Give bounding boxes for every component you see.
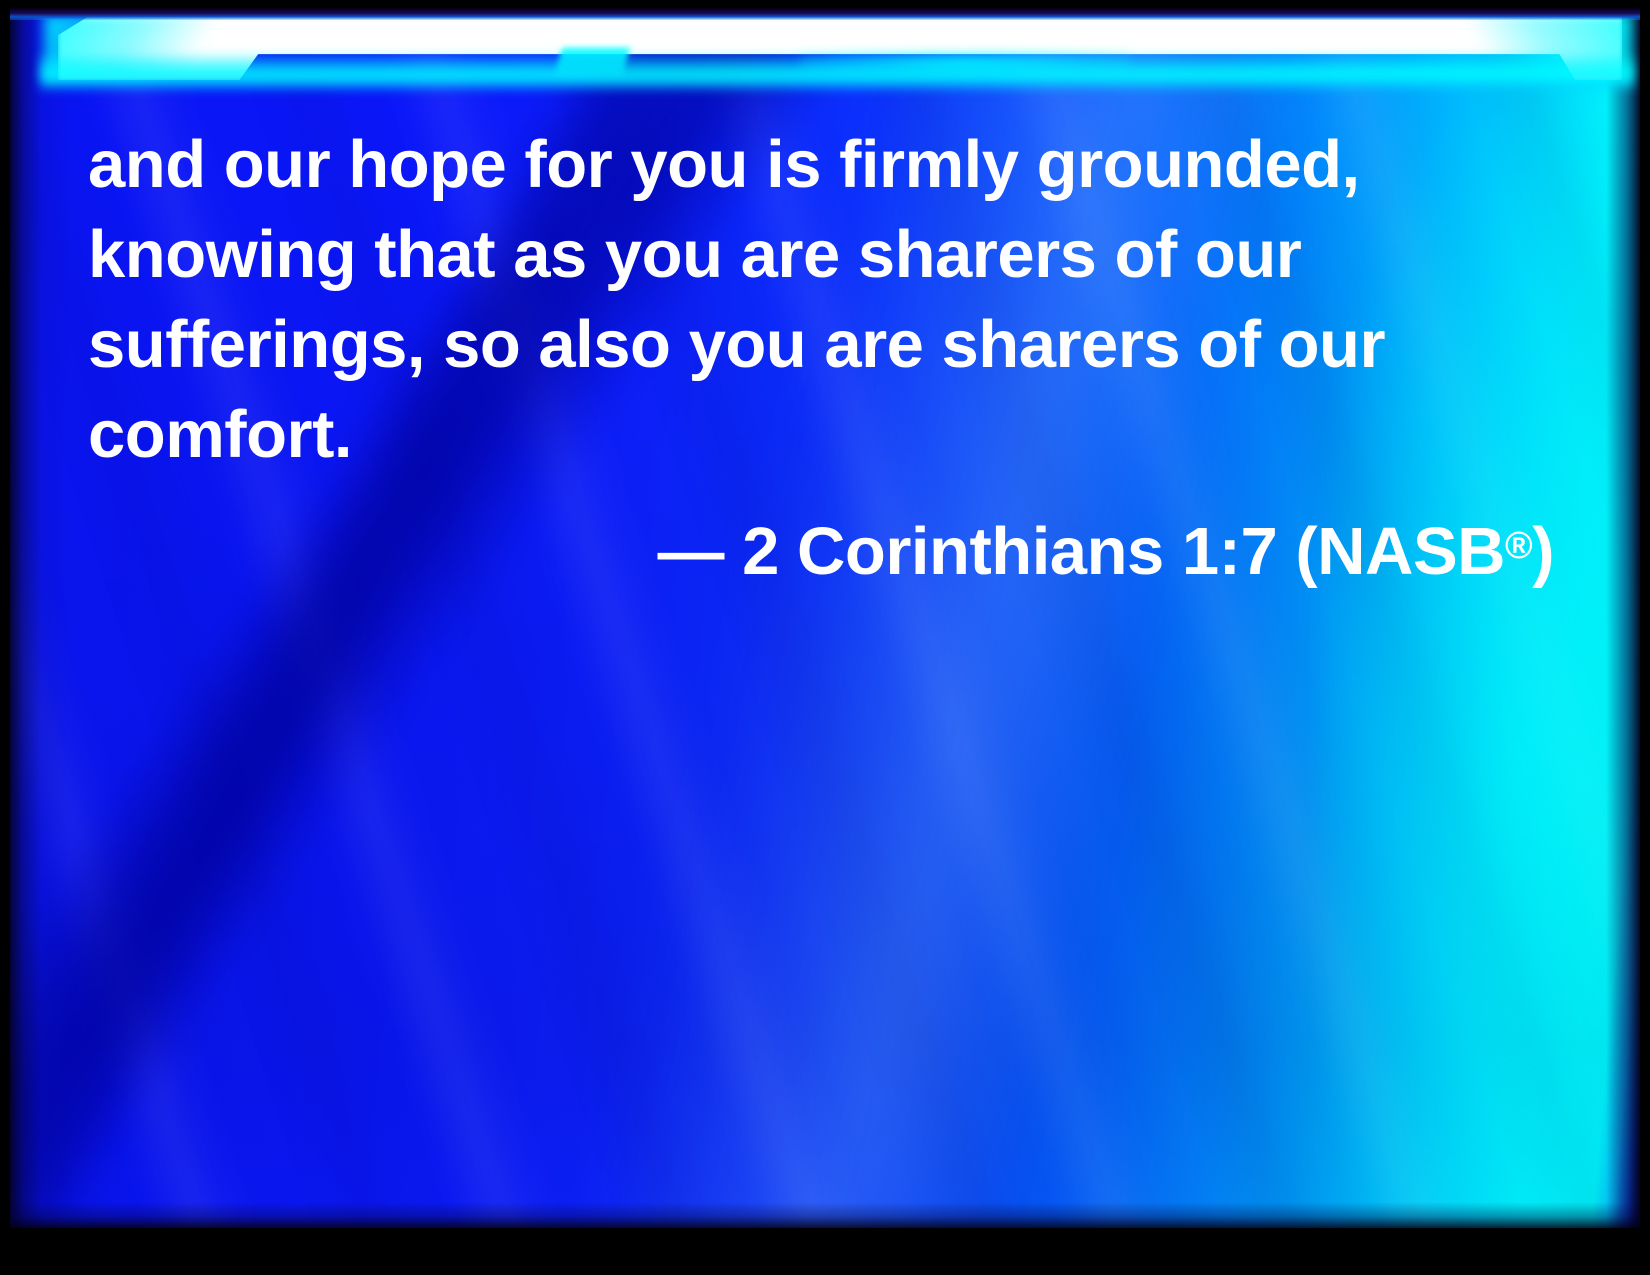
verse-reference-close-paren: ) [1532,514,1554,589]
top-light-bar-blob [800,52,1130,74]
verse-reference-dash: — [658,514,725,589]
background-bottom-vignette [10,1202,1640,1228]
verse-text: and our hope for you is firmly grounded,… [88,120,1558,480]
top-light-bar-cyan-right [1440,14,1630,76]
top-light-bar [10,8,1640,100]
verse-reference-translation: NASB [1317,514,1505,589]
verse-block: and our hope for you is firmly grounded,… [88,120,1558,595]
registered-trademark-icon: ® [1505,524,1532,566]
verse-slide: and our hope for you is firmly grounded,… [0,0,1650,1275]
top-light-bar-notch [554,48,629,78]
background-right-vignette [1606,8,1640,1228]
verse-reference-chapter-verse: 1:7 [1182,514,1277,589]
top-edge-dark-line [10,8,1640,20]
top-light-bar-cyan-left [44,14,254,76]
verse-reference-open-paren: ( [1295,514,1317,589]
background-left-vignette [10,8,70,1228]
verse-reference-book: 2 Corinthians [742,514,1164,589]
top-light-bar-cyan-glow [40,8,1634,92]
slide-canvas: and our hope for you is firmly grounded,… [10,8,1640,1228]
verse-reference: — 2 Corinthians 1:7 (NASB®) [88,502,1558,595]
